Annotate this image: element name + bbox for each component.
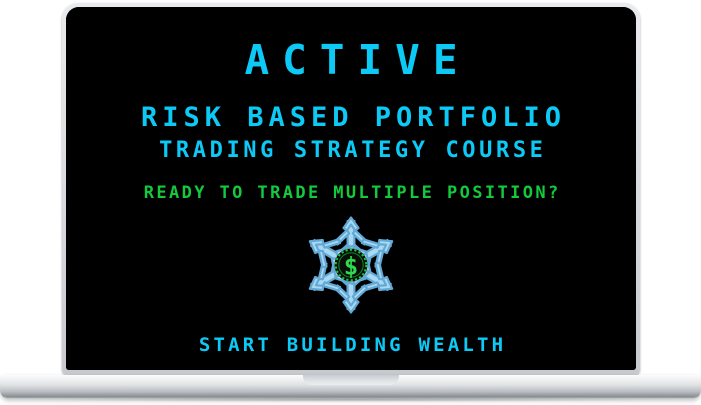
slide-cta-text: START BUILDING WEALTH xyxy=(196,336,507,355)
slide-question-text: READY TO TRADE MULTIPLE POSITION? xyxy=(141,185,560,202)
presentation-slide: ACTIVE RISK BASED PORTFOLIO TRADING STRA… xyxy=(66,7,636,370)
laptop-lid: ACTIVE RISK BASED PORTFOLIO TRADING STRA… xyxy=(62,3,640,375)
laptop-base xyxy=(0,375,701,399)
emblem-container: $ xyxy=(299,213,403,317)
snowflake-dollar-icon: $ xyxy=(299,213,403,317)
dollar-symbol: $ xyxy=(344,253,358,281)
laptop-base-notch xyxy=(303,375,399,385)
screenshot-stage: ACTIVE RISK BASED PORTFOLIO TRADING STRA… xyxy=(0,0,701,405)
slide-subtitle-secondary: TRADING STRATEGY COURSE xyxy=(155,140,546,162)
slide-headline: ACTIVE xyxy=(231,40,470,81)
laptop-screen[interactable]: ACTIVE RISK BASED PORTFOLIO TRADING STRA… xyxy=(66,7,636,370)
laptop-drop-shadow xyxy=(30,397,671,402)
slide-subtitle-primary: RISK BASED PORTFOLIO xyxy=(136,104,566,131)
